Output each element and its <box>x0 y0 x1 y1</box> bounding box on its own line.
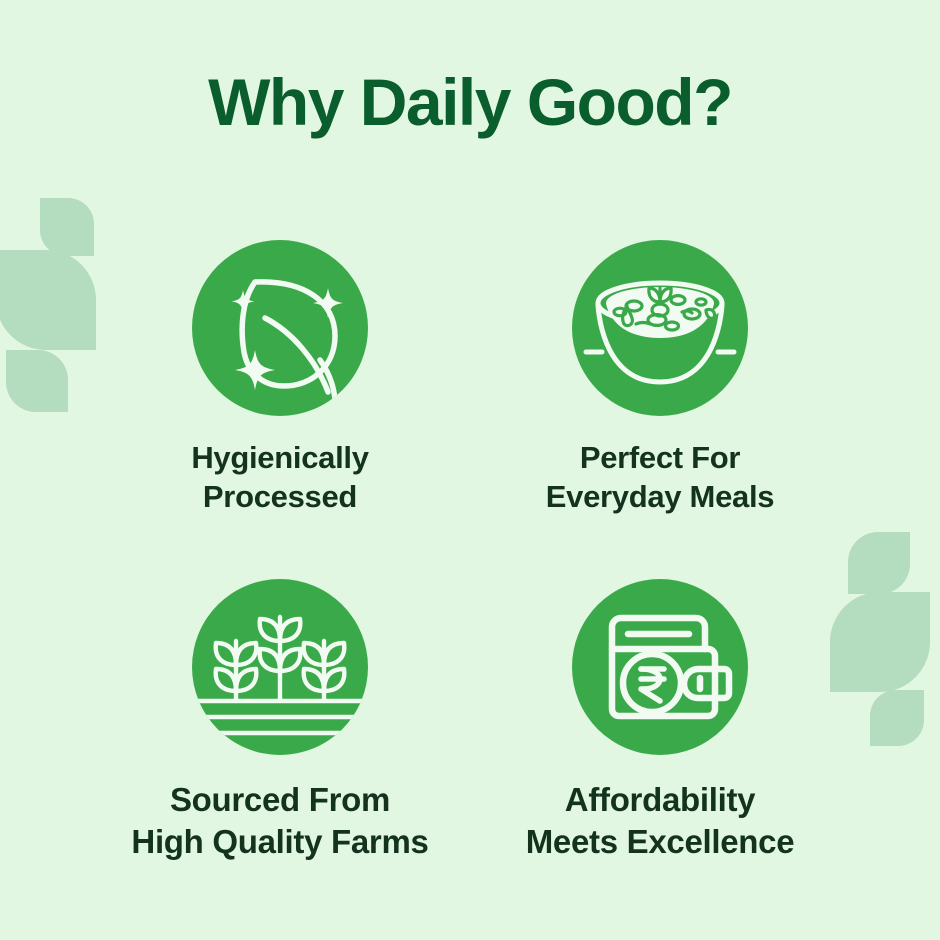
feature-item-everyday-meals: Perfect For Everyday Meals <box>470 240 850 517</box>
feature-item-hygienically-processed: Hygienically Processed <box>90 240 470 517</box>
decorative-leaf-icon <box>40 198 94 256</box>
leaf-sparkle-icon <box>192 240 368 416</box>
decorative-leaf-icon <box>870 690 924 746</box>
feature-label: Hygienically Processed <box>191 438 368 517</box>
feature-label: Perfect For Everyday Meals <box>546 438 774 517</box>
decorative-leaf-icon <box>6 350 68 412</box>
wallet-rupee-icon <box>572 579 748 755</box>
feature-item-high-quality-farms: Sourced From High Quality Farms <box>90 579 470 863</box>
decorative-leaf-icon <box>0 250 96 350</box>
promo-poster: Why Daily Good? <box>0 0 940 940</box>
bowl-of-soup-icon <box>572 240 748 416</box>
feature-label: Sourced From High Quality Farms <box>131 779 428 863</box>
page-title: Why Daily Good? <box>0 68 940 137</box>
feature-label: Affordability Meets Excellence <box>526 779 795 863</box>
feature-item-affordability: Affordability Meets Excellence <box>470 579 850 863</box>
crop-plants-field-icon <box>192 579 368 755</box>
decorative-leaf-icon <box>848 532 910 594</box>
feature-grid: Hygienically Processed <box>90 240 850 863</box>
